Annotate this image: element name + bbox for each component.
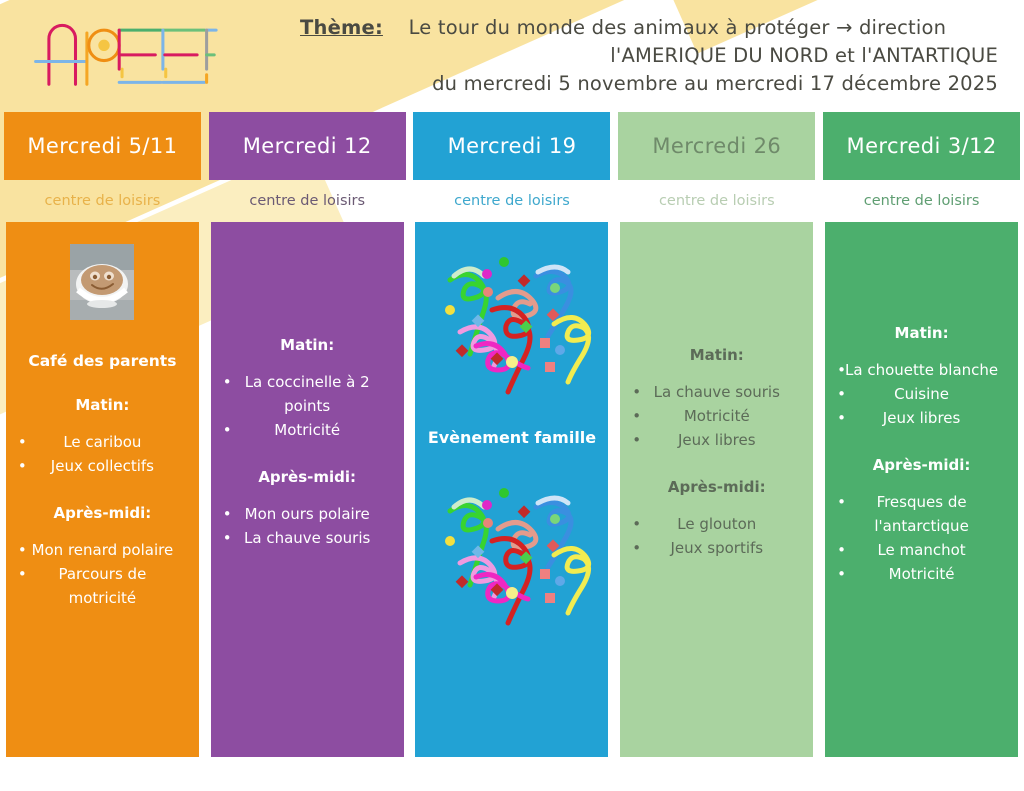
section-title-apres-midi: Après-midi: [873,456,971,474]
theme-label: Thème: [300,16,383,39]
list-item-label: Fresques de l'antarctique [874,493,968,535]
list-item: •Jeux sportifs [628,536,805,560]
section-title-matin: Matin: [690,346,744,364]
column-subtitle: centre de loisirs [819,180,1024,222]
column-header-day: Mercredi 5/11 [4,112,201,180]
bullet-icon: • [223,502,232,526]
list-item-label: Motricité [684,407,750,425]
section-title-matin: Matin: [280,336,334,354]
list-item-label: Jeux libres [883,409,961,427]
column-header-day: Mercredi 26 [618,112,815,180]
list-item: •Fresques de l'antarctique [833,490,1010,538]
bullet-icon: • [18,562,27,586]
section-title-apres-midi: Après-midi: [258,468,356,486]
list-item: •La chouette blanche [833,358,1010,382]
list-item-label: Mon renard polaire [32,541,174,559]
list-item-label: Le caribou [63,433,141,451]
schedule-column-mercredi-5-11: Mercredi 5/11 centre de loisirs [0,112,205,791]
confetti-streamers-graphic [432,250,592,400]
column-body: Matin: •La chauve souris •Motricité •Jeu… [620,222,813,757]
list-item: •Motricité [833,562,1010,586]
bullet-icon: • [632,512,641,536]
column-body: Matin: •La chouette blanche •Cuisine •Je… [825,222,1018,757]
list-item: •Jeux libres [833,406,1010,430]
list-item: •La chauve souris [628,380,805,404]
list-item: •Motricité [219,418,396,442]
bullet-icon: • [837,358,846,382]
theme-line-3: du mercredi 5 novembre au mercredi 17 dé… [300,70,1000,98]
schedule-column-mercredi-12: Mercredi 12 centre de loisirs Matin: •La… [205,112,410,791]
section-title-matin: Matin: [75,396,129,414]
bullet-icon: • [18,430,27,454]
list-item-label: Cuisine [894,385,949,403]
theme-text-block: Thème: Le tour du monde des animaux à pr… [300,14,1000,98]
bullet-icon: • [632,536,641,560]
confetti-top-wrap [423,236,600,400]
section-items-matin: •Le caribou •Jeux collectifs [14,430,191,478]
list-item-label: Le manchot [877,541,965,559]
section-items-apres-midi: •Mon ours polaire •La chauve souris [219,502,396,550]
schedule-column-mercredi-3-12: Mercredi 3/12 centre de loisirs Matin: •… [819,112,1024,791]
bullet-icon: • [837,382,846,406]
schedule-column-mercredi-26: Mercredi 26 centre de loisirs Matin: •La… [614,112,819,791]
list-item: •Mon renard polaire [14,538,191,562]
confetti-bottom-wrap [423,481,600,631]
section-items-matin: •La chauve souris •Motricité •Jeux libre… [628,380,805,452]
bullet-icon: • [632,404,641,428]
confetti-streamers-graphic-2 [432,481,592,631]
section-items-matin: •La coccinelle à 2 points •Motricité [219,370,396,442]
bullet-icon: • [18,454,27,478]
poster-header: Thème: Le tour du monde des animaux à pr… [0,0,1024,110]
bullet-icon: • [837,538,846,562]
bullet-icon: • [837,562,846,586]
list-item: •Le manchot [833,538,1010,562]
list-item-label: Jeux libres [678,431,756,449]
list-item: •Motricité [628,404,805,428]
column-headline: Café des parents [28,352,176,370]
list-item-label: La coccinelle à 2 points [245,373,370,415]
column-body: Café des parents Matin: •Le caribou •Jeu… [6,222,199,757]
bullet-icon: • [837,406,846,430]
list-item-label: La chouette blanche [845,361,998,379]
list-item: •Parcours de motricité [14,562,191,610]
theme-line-1: Thème: Le tour du monde des animaux à pr… [300,14,1000,42]
column-header-day: Mercredi 19 [413,112,610,180]
column-subtitle: centre de loisirs [410,180,615,222]
list-item-label: Le glouton [677,515,756,533]
coffee-cup-smiley-photo [70,244,134,320]
list-item-label: Parcours de motricité [58,565,146,607]
bullet-icon: • [632,380,641,404]
column-header-day: Mercredi 12 [209,112,406,180]
bullet-icon: • [837,490,846,514]
bullet-icon: • [632,428,641,452]
bullet-icon: • [223,418,232,442]
theme-line-2: l'AMERIQUE DU NORD et l'ANTARTIQUE [300,42,1000,70]
event-label: Evènement famille [428,428,596,447]
column-header-day: Mercredi 3/12 [823,112,1020,180]
section-title-apres-midi: Après-midi: [668,478,766,496]
section-items-apres-midi: •Le glouton •Jeux sportifs [628,512,805,560]
list-item: •Jeux collectifs [14,454,191,478]
list-item-label: Mon ours polaire [245,505,370,523]
section-title-apres-midi: Après-midi: [54,504,152,522]
column-body: Matin: •La coccinelle à 2 points •Motric… [211,222,404,757]
list-item: •Jeux libres [628,428,805,452]
list-item-label: Jeux sportifs [670,539,763,557]
poster-canvas: Thème: Le tour du monde des animaux à pr… [0,0,1024,791]
list-item: •La chauve souris [219,526,396,550]
list-item-label: Jeux collectifs [51,457,154,475]
list-item: •Le glouton [628,512,805,536]
column-subtitle: centre de loisirs [614,180,819,222]
schedule-grid: Mercredi 5/11 centre de loisirs [0,112,1024,791]
list-item-label: La chauve souris [244,529,370,547]
list-item: •Cuisine [833,382,1010,406]
section-title-matin: Matin: [895,324,949,342]
list-item: •Le caribou [14,430,191,454]
apeef-logo [28,14,218,90]
list-item-label: Motricité [889,565,955,583]
section-items-apres-midi: •Fresques de l'antarctique •Le manchot •… [833,490,1010,586]
list-item: •La coccinelle à 2 points [219,370,396,418]
column-body: Evènement famille [415,222,608,757]
theme-line-1-text: Le tour du monde des animaux à protéger … [409,16,947,39]
section-items-apres-midi: •Mon renard polaire •Parcours de motrici… [14,538,191,610]
list-item-label: Motricité [274,421,340,439]
list-item: •Mon ours polaire [219,502,396,526]
schedule-column-mercredi-19: Mercredi 19 centre de loisirs [410,112,615,791]
bullet-icon: • [223,370,232,394]
bullet-icon: • [18,538,27,562]
list-item-label: La chauve souris [654,383,780,401]
column-subtitle: centre de loisirs [0,180,205,222]
section-items-matin: •La chouette blanche •Cuisine •Jeux libr… [833,358,1010,430]
bullet-icon: • [223,526,232,550]
column-subtitle: centre de loisirs [205,180,410,222]
